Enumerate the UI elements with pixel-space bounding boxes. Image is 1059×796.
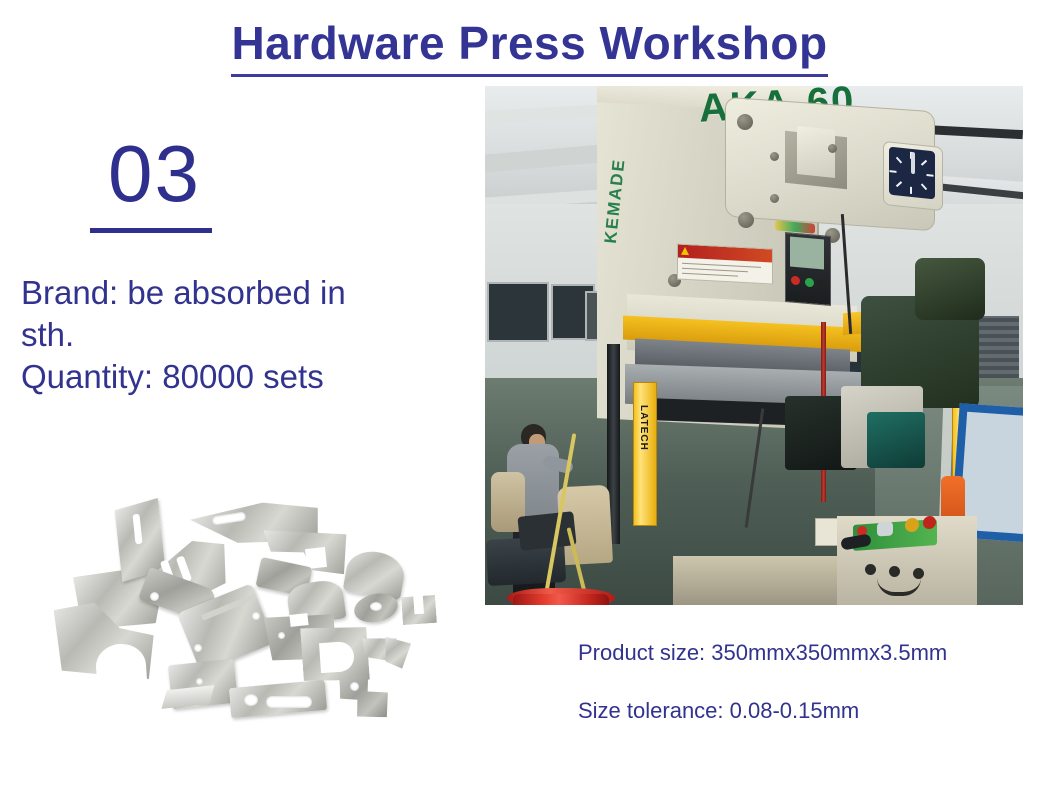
light-curtain-left: LATECH <box>633 382 657 526</box>
page-title: Hardware Press Workshop <box>0 16 1059 77</box>
frame-bolt <box>738 212 754 228</box>
part-hole <box>244 694 258 706</box>
product-specifications: Product size: 350mmx350mmx3.5mm Size tol… <box>578 641 1038 722</box>
frame-bolt <box>770 152 779 161</box>
red-bucket <box>513 594 609 605</box>
page-title-text: Hardware Press Workshop <box>231 16 827 77</box>
factory-window <box>487 282 549 342</box>
part-notch <box>305 547 327 569</box>
console-button-grey <box>877 521 893 536</box>
part-notch <box>289 613 308 627</box>
part-hole <box>278 632 285 639</box>
product-details: Brand: be absorbed in sth. Quantity: 800… <box>21 272 461 399</box>
detail-line-brand: Brand: be absorbed in <box>21 272 461 314</box>
part-hole <box>196 678 203 685</box>
safety-warning-label <box>677 243 773 284</box>
start-button <box>805 278 814 288</box>
frame-bolt <box>770 194 779 203</box>
part-hole <box>150 592 159 601</box>
control-panel-display <box>790 237 824 270</box>
slide-number: 03 <box>108 134 201 214</box>
emergency-stop-button <box>791 276 800 286</box>
part-hole <box>370 602 382 611</box>
work-pallet <box>673 556 863 605</box>
stamped-part <box>343 547 408 600</box>
mode-button <box>817 280 825 289</box>
frame-bolt <box>737 114 753 130</box>
press-machine-photo: KEMADE AKA-60 <box>485 86 1023 605</box>
console-port <box>889 566 900 577</box>
slide-canvas: Hardware Press Workshop 03 Brand: be abs… <box>0 0 1059 796</box>
part-hole <box>350 682 359 691</box>
spec-product-size: Product size: 350mmx350mmx3.5mm <box>578 641 1038 664</box>
stamped-part <box>401 595 437 625</box>
auxiliary-machine-head <box>915 258 985 320</box>
light-curtain-brand-label: LATECH <box>638 405 649 451</box>
equipment-label <box>815 518 839 546</box>
slide-number-underline <box>90 228 212 233</box>
spec-size-tolerance: Size tolerance: 0.08-0.15mm <box>578 699 1038 722</box>
equipment-box <box>867 412 925 468</box>
detail-line-brand-cont: sth. <box>21 314 461 356</box>
stamped-parts-photo <box>34 486 464 736</box>
gauge-pointer <box>911 152 915 174</box>
stamped-part <box>339 673 389 719</box>
frame-bolt <box>828 144 837 153</box>
detail-line-quantity: Quantity: 80000 sets <box>21 356 461 398</box>
part-hole <box>194 644 202 652</box>
stamped-part <box>383 637 412 670</box>
part-slot <box>266 696 312 708</box>
part-hole <box>252 612 260 620</box>
console-port <box>865 564 876 575</box>
